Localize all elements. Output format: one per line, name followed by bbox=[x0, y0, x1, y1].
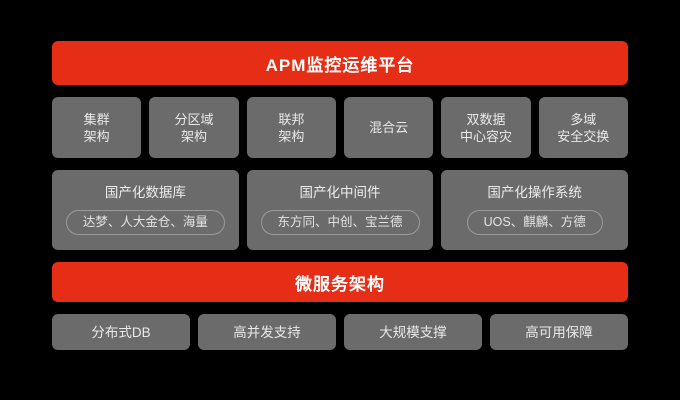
microservice-banner[interactable]: 微服务架构 bbox=[52, 262, 628, 302]
microservice-banner-label: 微服务架构 bbox=[295, 270, 385, 295]
localization-panel-title: 国产化数据库 bbox=[105, 185, 186, 201]
localization-panel-middleware[interactable]: 国产化中间件 东方同、中创、宝兰德 bbox=[247, 170, 434, 250]
localization-panel-row: 国产化数据库 达梦、人大金仓、海量 国产化中间件 东方同、中创、宝兰德 国产化操… bbox=[52, 170, 628, 250]
capability-card-large-scale[interactable]: 大规模支撑 bbox=[344, 314, 482, 350]
capability-card-row: 分布式DB 高并发支持 大规模支撑 高可用保障 bbox=[52, 314, 628, 350]
localization-panel-os[interactable]: 国产化操作系统 UOS、麒麟、方德 bbox=[441, 170, 628, 250]
architecture-card-label: 分区域 架构 bbox=[174, 111, 213, 145]
architecture-card-label: 混合云 bbox=[369, 119, 408, 136]
spacer bbox=[52, 85, 628, 97]
apm-platform-banner[interactable]: APM监控运维平台 bbox=[52, 41, 628, 85]
architecture-card-row: 集群 架构 分区域 架构 联邦 架构 混合云 双数据 中心容灾 多域 安全交换 bbox=[52, 97, 628, 158]
architecture-card-multi-domain-exchange[interactable]: 多域 安全交换 bbox=[539, 97, 628, 158]
localization-panel-title: 国产化中间件 bbox=[300, 185, 381, 201]
localization-vendor-pill: 东方同、中创、宝兰德 bbox=[261, 210, 420, 235]
spacer bbox=[52, 302, 628, 314]
architecture-card-cluster[interactable]: 集群 架构 bbox=[52, 97, 141, 158]
capability-card-distributed-db[interactable]: 分布式DB bbox=[52, 314, 190, 350]
architecture-card-regional[interactable]: 分区域 架构 bbox=[149, 97, 238, 158]
localization-panel-database[interactable]: 国产化数据库 达梦、人大金仓、海量 bbox=[52, 170, 239, 250]
architecture-card-label: 双数据 中心容灾 bbox=[460, 111, 512, 145]
localization-vendor-pill: 达梦、人大金仓、海量 bbox=[66, 210, 225, 235]
capability-card-label: 高可用保障 bbox=[525, 324, 593, 341]
architecture-card-label: 联邦 架构 bbox=[278, 111, 304, 145]
spacer bbox=[52, 250, 628, 262]
architecture-card-federation[interactable]: 联邦 架构 bbox=[247, 97, 336, 158]
spacer bbox=[52, 158, 628, 170]
localization-panel-title: 国产化操作系统 bbox=[487, 185, 582, 201]
apm-platform-banner-label: APM监控运维平台 bbox=[266, 51, 415, 76]
architecture-card-label: 集群 架构 bbox=[84, 111, 110, 145]
architecture-card-hybrid-cloud[interactable]: 混合云 bbox=[344, 97, 433, 158]
architecture-card-label: 多域 安全交换 bbox=[557, 111, 609, 145]
capability-card-label: 分布式DB bbox=[91, 324, 150, 341]
architecture-card-dual-datacenter[interactable]: 双数据 中心容灾 bbox=[441, 97, 530, 158]
capability-card-label: 高并发支持 bbox=[233, 324, 301, 341]
localization-vendor-pill: UOS、麒麟、方德 bbox=[467, 210, 603, 235]
capability-card-label: 大规模支撑 bbox=[379, 324, 447, 341]
capability-card-high-concurrency[interactable]: 高并发支持 bbox=[198, 314, 336, 350]
architecture-diagram: APM监控运维平台 集群 架构 分区域 架构 联邦 架构 混合云 双数据 中心容… bbox=[52, 41, 628, 358]
capability-card-high-availability[interactable]: 高可用保障 bbox=[490, 314, 628, 350]
